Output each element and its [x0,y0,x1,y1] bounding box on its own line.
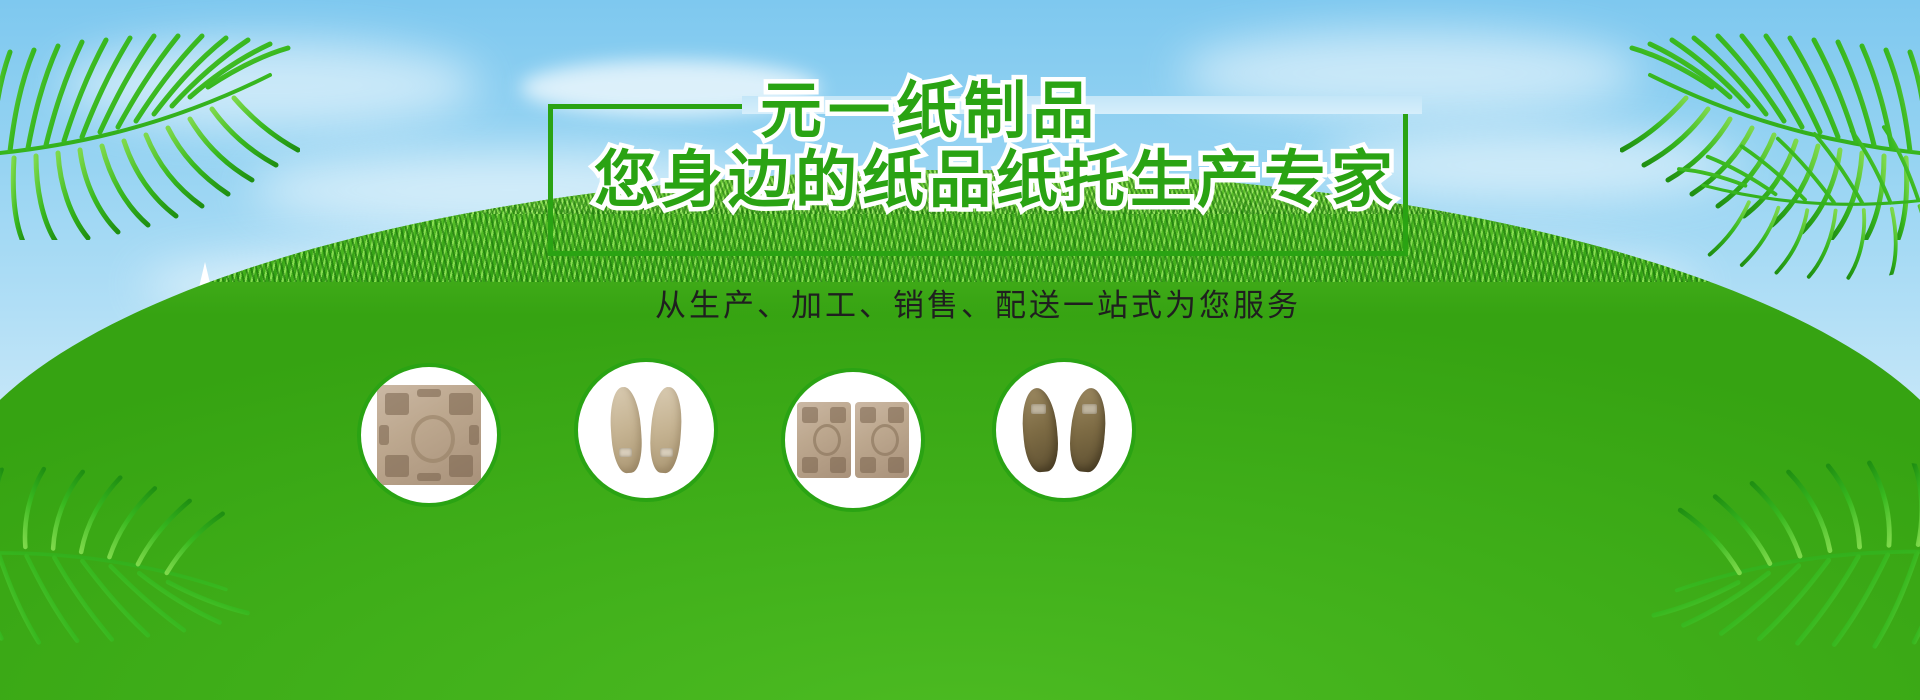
tray-center-ring [411,415,455,463]
product-circle-molded-pulp-double-tray[interactable] [781,368,925,512]
tray-cell [830,457,846,473]
tray-rib [379,425,389,445]
tray-rib [417,389,441,397]
banner-subtitle: 从生产、加工、销售、配送一站式为您服务 [548,286,1408,326]
double-tray-half-right [855,402,909,478]
double-tray-half-left [797,402,851,478]
tray-cell [385,455,409,477]
product-image-dark-shoe-inserts [1018,384,1110,476]
shoe-notch [1082,404,1097,414]
headline-secondary: 您身边的纸品纸托生产专家 [556,146,1436,226]
tray-cell [888,407,904,423]
palm-frond-icon [0,0,300,240]
tray-cell [802,407,818,423]
banner-root: 元一纸制品 您身边的纸品纸托生产专家 从生产、加工、销售、配送一站式为您服务 [0,0,1920,700]
shoe-notch [619,448,632,457]
tray-cell [385,393,409,415]
tray-rib [469,425,479,445]
tray-cell [860,457,876,473]
tray-cell [802,457,818,473]
product-circle-molded-pulp-shoe-inserts[interactable] [574,358,718,502]
shoe-notch [660,448,673,457]
shoe-insert-left [608,386,644,474]
shoe-insert-right [1067,387,1108,474]
headline-primary: 元一纸制品 [760,78,1420,148]
tray-cell [449,393,473,415]
product-image-shoe-inserts [603,382,689,478]
shoe-notch [1031,404,1046,414]
palm-frond-icon [0,435,265,700]
shoe-insert-left [1019,387,1060,474]
product-image-square-tray [377,385,481,485]
product-circle-molded-pulp-square-tray[interactable] [357,363,501,507]
shoe-insert-right [648,386,684,474]
tray-center-ring [813,424,841,456]
tray-cell [888,457,904,473]
tray-cell [860,407,876,423]
tray-cell [449,455,473,477]
product-image-double-tray [797,402,909,478]
tray-center-ring [871,424,899,456]
palm-frond-icon [1634,429,1920,700]
tray-rib [417,473,441,481]
tray-cell [830,407,846,423]
product-circle-molded-pulp-dark-shoe-inserts[interactable] [992,358,1136,502]
